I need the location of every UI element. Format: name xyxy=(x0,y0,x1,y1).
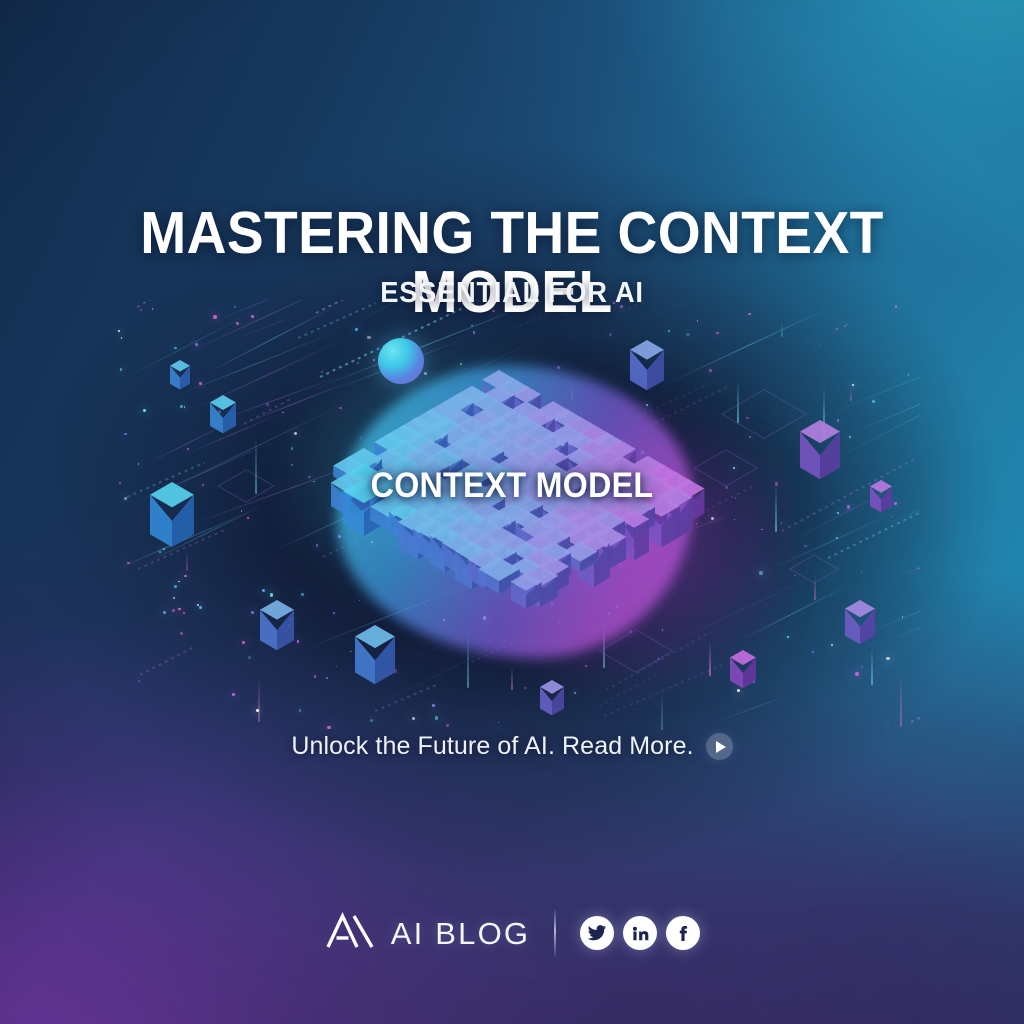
footer: AI BLOG xyxy=(0,905,1024,961)
facebook-icon[interactable] xyxy=(666,916,700,950)
page-subtitle: ESSENTIAL FOR AI xyxy=(31,279,994,308)
brand-lockup[interactable]: AI BLOG xyxy=(324,911,530,956)
cta-row[interactable]: Unlock the Future of AI. Read More. xyxy=(0,733,1024,760)
cta-text: Unlock the Future of AI. Read More. xyxy=(291,734,693,759)
ai-blog-logo-icon xyxy=(324,911,376,956)
twitter-icon[interactable] xyxy=(580,916,614,950)
play-triangle xyxy=(716,741,726,753)
play-icon[interactable] xyxy=(706,733,733,760)
background-vignette xyxy=(0,0,1024,1024)
footer-divider xyxy=(554,910,556,956)
brand-name: AI BLOG xyxy=(391,918,530,949)
center-label: CONTEXT MODEL xyxy=(41,468,983,503)
social-links xyxy=(580,916,700,950)
poster-canvas: MASTERING THE CONTEXT MODEL ESSENTIAL FO… xyxy=(0,0,1024,1024)
linkedin-icon[interactable] xyxy=(623,916,657,950)
